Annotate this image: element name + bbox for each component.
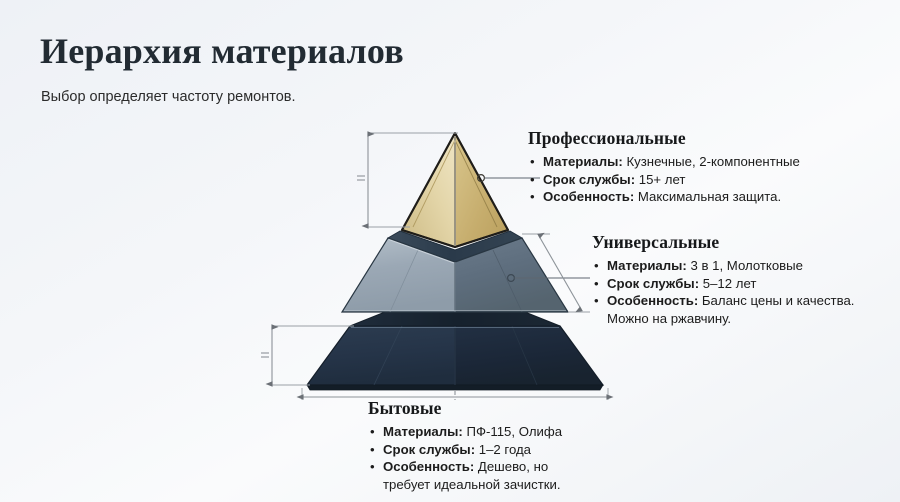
callout-universal: Универсальные •Материалы: 3 в 1, Молотко…: [592, 232, 854, 327]
bullet-icon: •: [370, 441, 375, 459]
item-label: Особенность:: [543, 189, 634, 204]
list-item: •Особенность: Дешево, но: [368, 458, 562, 476]
callout-household: Бытовые •Материалы: ПФ-115, Олифа •Срок …: [368, 398, 562, 493]
item-value: 15+ лет: [635, 172, 685, 187]
page-subtitle: Выбор определяет частоту ремонтов.: [41, 89, 296, 105]
bullet-icon: •: [370, 458, 375, 476]
item-value: ПФ-115, Олифа: [463, 424, 562, 439]
pyramid-tier-professional[interactable]: [402, 133, 540, 247]
item-label: Особенность:: [383, 459, 474, 474]
list-item-continuation: Можно на ржавчину.: [592, 310, 854, 328]
list-item: •Материалы: ПФ-115, Олифа: [368, 423, 562, 441]
bullet-icon: •: [594, 257, 599, 275]
list-item: •Материалы: Кузнечные, 2-компонентные: [528, 153, 800, 171]
bullet-icon: •: [530, 171, 535, 189]
callout-heading-universal: Универсальные: [592, 232, 854, 253]
item-label: Материалы:: [543, 154, 623, 169]
list-item-continuation: требует идеальной зачистки.: [368, 476, 562, 494]
callout-professional: Профессиональные •Материалы: Кузнечные, …: [528, 128, 800, 206]
pyramid-tier-household[interactable]: [307, 312, 603, 390]
list-item: •Особенность: Баланс цены и качества.: [592, 292, 854, 310]
list-item: •Материалы: 3 в 1, Молотковые: [592, 257, 854, 275]
item-value: 1–2 года: [475, 442, 531, 457]
bullet-icon: •: [530, 153, 535, 171]
callout-heading-household: Бытовые: [368, 398, 562, 419]
item-label: Срок службы:: [383, 442, 475, 457]
slide-canvas: Иерархия материалов Выбор определяет час…: [0, 0, 900, 502]
list-item: •Срок службы: 15+ лет: [528, 171, 800, 189]
list-item: •Срок службы: 5–12 лет: [592, 275, 854, 293]
item-value: 3 в 1, Молотковые: [687, 258, 803, 273]
bullet-icon: •: [530, 188, 535, 206]
item-value: Максимальная защита.: [634, 189, 781, 204]
list-item: •Особенность: Максимальная защита.: [528, 188, 800, 206]
list-item: •Срок службы: 1–2 года: [368, 441, 562, 459]
item-label: Материалы:: [607, 258, 687, 273]
item-label: Особенность:: [607, 293, 698, 308]
item-label: Срок службы:: [543, 172, 635, 187]
item-value: Кузнечные, 2-компонентные: [623, 154, 800, 169]
item-label: Срок службы:: [607, 276, 699, 291]
item-value: Баланс цены и качества.: [698, 293, 854, 308]
callout-list-universal: •Материалы: 3 в 1, Молотковые •Срок служ…: [592, 257, 854, 327]
item-label: Материалы:: [383, 424, 463, 439]
callout-list-household: •Материалы: ПФ-115, Олифа •Срок службы: …: [368, 423, 562, 493]
bullet-icon: •: [370, 423, 375, 441]
bullet-icon: •: [594, 275, 599, 293]
item-value: 5–12 лет: [699, 276, 756, 291]
item-value: Дешево, но: [474, 459, 548, 474]
callout-list-professional: •Материалы: Кузнечные, 2-компонентные •С…: [528, 153, 800, 206]
page-title: Иерархия материалов: [40, 30, 404, 72]
bullet-icon: •: [594, 292, 599, 310]
callout-heading-professional: Профессиональные: [528, 128, 800, 149]
